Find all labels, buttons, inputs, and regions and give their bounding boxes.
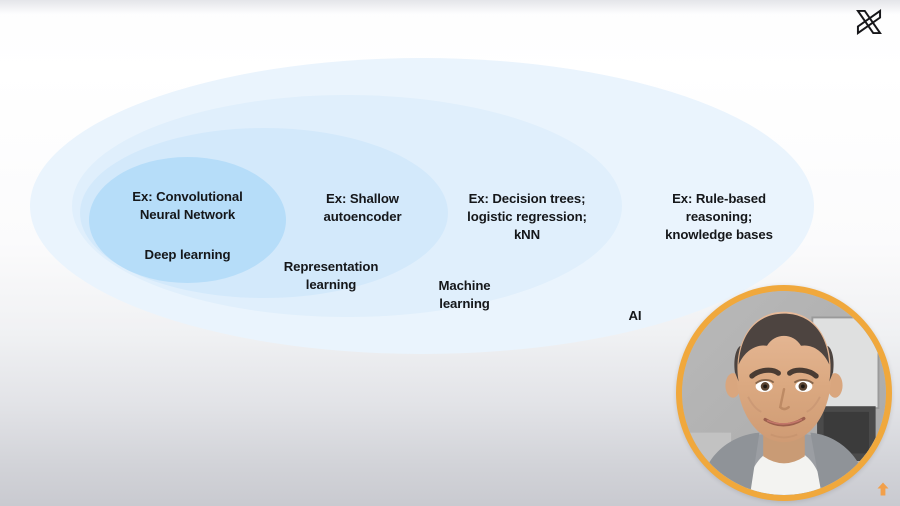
- deep-learning-examples: Ex: Convolutional Neural Network: [90, 188, 285, 224]
- representation-learning-examples: Ex: Shallow autoencoder: [274, 190, 451, 226]
- webcam-bubble[interactable]: [676, 285, 892, 501]
- x-logo-icon: [854, 7, 884, 37]
- machine-learning-label: Machine learning: [402, 277, 527, 313]
- top-edge-shading: [0, 0, 900, 14]
- representation-learning-label: Representation learning: [251, 258, 411, 294]
- slide-canvas: Ex: Convolutional Neural Network Deep le…: [0, 0, 900, 506]
- orange-arrow-icon[interactable]: [873, 479, 893, 499]
- ai-examples: Ex: Rule-based reasoning; knowledge base…: [629, 190, 809, 245]
- ai-label: AI: [596, 307, 674, 325]
- machine-learning-examples: Ex: Decision trees; logistic regression;…: [432, 190, 622, 245]
- webcam-video: [682, 291, 886, 495]
